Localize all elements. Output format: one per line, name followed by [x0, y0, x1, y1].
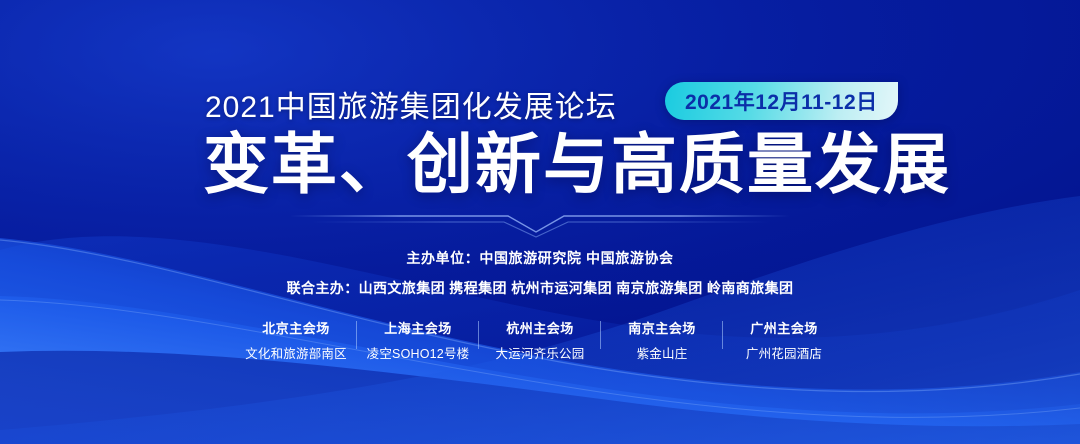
- venue-item: 杭州主会场 大运河齐乐公园: [479, 318, 601, 362]
- venue-list: 北京主会场 文化和旅游部南区 上海主会场 凌空SOHO12号楼 杭州主会场 大运…: [0, 318, 1080, 362]
- venue-title: 南京主会场: [601, 318, 723, 337]
- venue-place: 广州花园酒店: [723, 343, 845, 362]
- forum-name-eyebrow: 2021中国旅游集团化发展论坛: [205, 82, 617, 126]
- venue-place: 文化和旅游部南区: [235, 343, 357, 362]
- v-notch-divider: [290, 206, 790, 238]
- event-date-text: 2021年12月11-12日: [685, 86, 878, 116]
- event-banner: 2021中国旅游集团化发展论坛 2021年12月11-12日 变革、创新与高质量…: [0, 0, 1080, 444]
- venue-item: 上海主会场 凌空SOHO12号楼: [357, 318, 479, 362]
- venue-title: 上海主会场: [357, 318, 479, 337]
- coorganizers-line: 联合主办：山西文旅集团 携程集团 杭州市运河集团 南京旅游集团 岭南商旅集团: [0, 278, 1080, 298]
- venue-item: 广州主会场 广州花园酒店: [723, 318, 845, 362]
- venue-item: 北京主会场 文化和旅游部南区: [235, 318, 357, 362]
- venue-place: 凌空SOHO12号楼: [357, 343, 479, 362]
- event-date-badge: 2021年12月11-12日: [665, 82, 898, 120]
- host-organizers-line: 主办单位：中国旅游研究院 中国旅游协会: [0, 248, 1080, 268]
- venue-item: 南京主会场 紫金山庄: [601, 318, 723, 362]
- venue-place: 大运河齐乐公园: [479, 343, 601, 362]
- venue-title: 北京主会场: [235, 318, 357, 337]
- main-headline: 变革、创新与高质量发展: [203, 128, 951, 200]
- venue-title: 杭州主会场: [479, 318, 601, 337]
- venue-title: 广州主会场: [723, 318, 845, 337]
- venue-place: 紫金山庄: [601, 343, 723, 362]
